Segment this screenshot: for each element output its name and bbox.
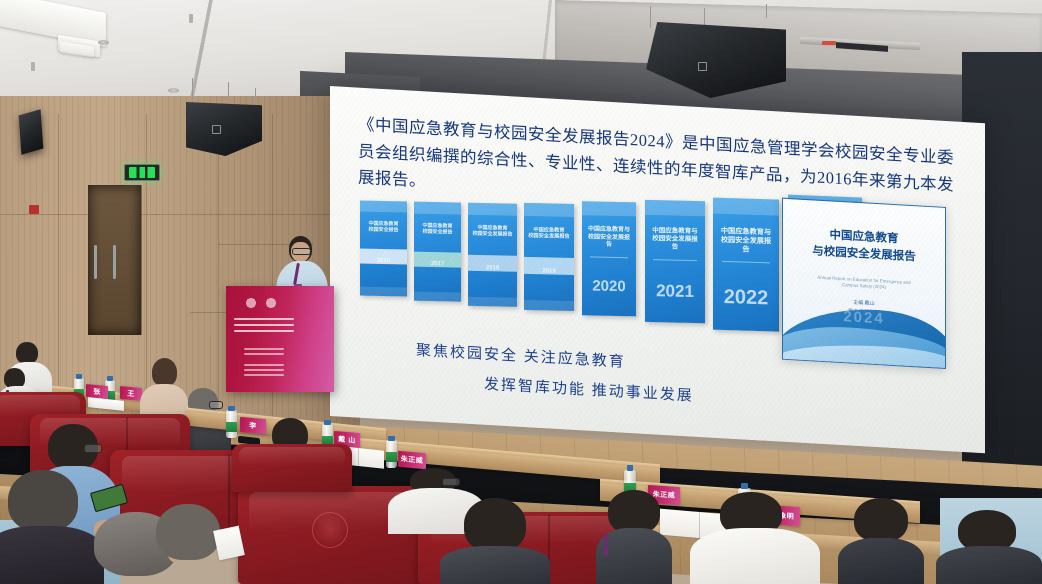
featured-english-line2: Campus Safety (2024)	[842, 282, 886, 289]
name-card-5-text: 朱正威	[401, 454, 424, 466]
book-cover-2017: 中国应急教育校园安全报告 2017	[414, 202, 461, 302]
book-title-2020: 中国应急教育与校园安全发展报告	[586, 226, 631, 249]
head	[16, 342, 38, 364]
lanyard	[604, 534, 608, 556]
book-title-2016: 中国应急教育校园安全报告	[364, 221, 404, 234]
glasses	[442, 478, 460, 486]
featured-title-line2: 与校园安全发展报告	[812, 246, 916, 264]
podium-banner-text-5	[244, 353, 284, 355]
person-far-right-edge	[936, 510, 1042, 584]
speaker-cable-2	[228, 82, 229, 104]
podium-banner-text-3	[234, 330, 294, 332]
head	[156, 504, 220, 560]
podium-emblem-icon	[240, 296, 282, 310]
head	[854, 498, 908, 542]
podium-banner-text-6	[244, 364, 284, 366]
person-foreground-seated-right	[140, 500, 240, 584]
book-year-2020: 2020	[582, 278, 636, 296]
screen-surface: 《中国应急教育与校园安全发展报告2024》是中国应急管理学会校园安全专业委 员会…	[330, 86, 985, 453]
book-title-2019: 中国应急教育校园安全发展报告	[528, 227, 570, 241]
conference-hall-photo: 《中国应急教育与校园安全发展报告2024》是中国应急管理学会校园安全专业委 员会…	[0, 0, 1042, 584]
track-light-head	[822, 41, 836, 45]
head	[464, 498, 526, 552]
podium-banner-text-1	[234, 318, 294, 320]
speaker-logo-icon	[212, 125, 221, 134]
sprinkler-2	[31, 62, 35, 71]
book-year-2019: 2019	[524, 268, 574, 275]
torso	[838, 538, 924, 584]
book-title-2017: 中国应急教育校园安全报告	[418, 223, 458, 236]
person-right-white-shirt	[690, 492, 820, 584]
featured-title-line1: 中国应急教育	[830, 229, 899, 245]
podium-banner-text-4	[244, 348, 284, 350]
person-right-seated-2	[838, 498, 924, 584]
book-title-2021: 中国应急教育与校园安全发展报告	[650, 227, 700, 252]
book-year-2021: 2021	[645, 281, 705, 302]
podium-banner-text-2	[234, 324, 294, 326]
book-cover-2019: 中国应急教育校园安全发展报告 2019	[524, 203, 574, 311]
speaker-cable-6	[766, 4, 767, 18]
wall-speaker-left	[19, 109, 44, 155]
torso	[690, 528, 820, 584]
water-bottle-5	[386, 440, 397, 468]
book-year-2022: 2022	[713, 286, 779, 311]
door-handle-left[interactable]	[94, 245, 97, 279]
panel-seam-3	[218, 114, 219, 426]
book-cover-2022: 中国应急教育与校园安全发展报告 2022	[713, 198, 779, 332]
water-bottle-3	[226, 410, 237, 438]
podium-banner-text-7	[244, 369, 284, 371]
door-handle-right[interactable]	[113, 245, 116, 279]
book-year-2018: 2018	[468, 265, 517, 272]
panel-seam-1	[58, 114, 59, 426]
torso	[936, 546, 1042, 584]
fire-alarm-box	[29, 205, 39, 214]
book-title-2022: 中国应急教育与校园安全发展报告	[718, 227, 773, 256]
book-year-2017: 2017	[414, 261, 461, 268]
podium	[226, 286, 334, 392]
sprinkler-1	[189, 14, 193, 23]
featured-editor-line1: 主编 戴山	[853, 300, 874, 307]
glasses	[84, 444, 102, 453]
torso	[440, 546, 550, 584]
book-title-2018: 中国应急教育校园安全发展报告	[472, 225, 513, 238]
name-card-5: 朱正威	[398, 451, 426, 469]
podium-banner-text-8	[244, 374, 284, 376]
book-cover-2020: 中国应急教育与校园安全发展报告 2020	[582, 201, 636, 316]
person-right-seated-1	[596, 490, 672, 584]
glasses	[209, 401, 223, 409]
speaker-logo-icon-2	[698, 62, 707, 71]
book-cover-2018: 中国应急教育校园安全发展报告 2018	[468, 203, 517, 307]
exit-sign-glyph	[129, 167, 155, 178]
exit-sign	[124, 164, 160, 181]
name-card-2: 王	[120, 386, 142, 401]
seat-row-behind-right[interactable]	[232, 444, 352, 492]
panel-seam-5	[0, 214, 360, 215]
name-card-2-text: 王	[127, 388, 135, 399]
speaker-cable-1	[192, 78, 193, 102]
presenter-glasses	[292, 248, 311, 255]
speaker-cable-5	[704, 8, 705, 26]
smoke-detector-2	[168, 88, 179, 93]
featured-book-2024: 中国应急教育 与校园安全发展报告 Annual Report on Educat…	[782, 198, 946, 369]
speaker-cable-4	[650, 6, 651, 28]
seat-emblem-icon	[312, 512, 348, 548]
smoke-detector-1	[98, 40, 109, 45]
head	[8, 470, 78, 532]
head	[152, 358, 177, 386]
projection-screen: 《中国应急教育与校园安全发展报告2024》是中国应急管理学会校园安全专业委 员会…	[330, 86, 985, 453]
book-year-2016: 2016	[360, 257, 407, 264]
person-foreground-dark-right	[440, 498, 550, 584]
book-cover-2016: 中国应急教育校园安全报告 2016	[360, 201, 407, 297]
book-cover-2021: 中国应急教育与校园安全发展报告 2021	[645, 200, 705, 323]
name-card-1-text: 张	[93, 386, 101, 397]
